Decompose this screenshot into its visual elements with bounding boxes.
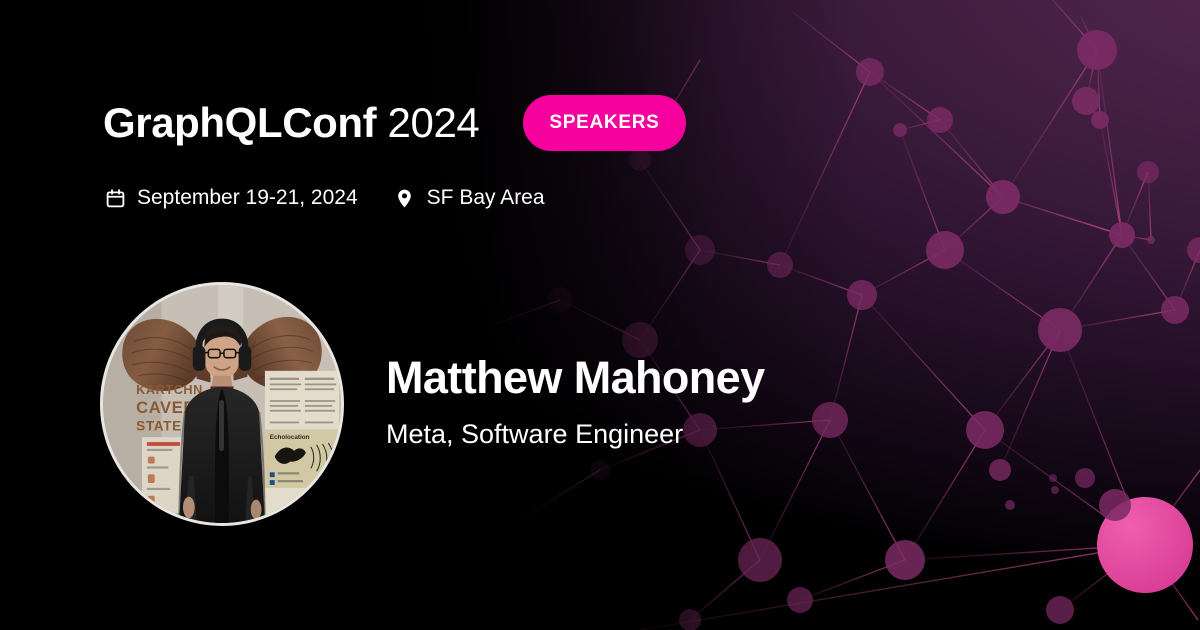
avatar-sign-line3: STATE — [136, 418, 182, 433]
calendar-icon — [104, 187, 126, 209]
event-date-label: September 19-21, 2024 — [137, 186, 358, 210]
speaker-role: Meta, Software Engineer — [386, 418, 765, 450]
conference-name: GraphQLConf — [103, 99, 376, 146]
event-location: SF Bay Area — [394, 186, 545, 210]
avatar-photo: KARTCHN CAVER STATE — [103, 285, 341, 523]
title-row: GraphQLConf 2024 SPEAKERS — [103, 95, 686, 151]
avatar-panel-title: Echolocation — [270, 434, 310, 441]
avatar-sign-line1: KARTCHN — [136, 383, 203, 397]
map-pin-icon — [394, 187, 416, 209]
speaker-name: Matthew Mahoney — [386, 354, 765, 403]
event-meta-row: September 19-21, 2024 SF Bay Area — [104, 186, 545, 210]
speaker-text: Matthew Mahoney Meta, Software Engineer — [386, 354, 765, 455]
avatar: KARTCHN CAVER STATE — [100, 282, 344, 526]
speaker-announcement-card: GraphQLConf 2024 SPEAKERS September 19-2… — [0, 0, 1200, 630]
event-location-label: SF Bay Area — [427, 186, 545, 210]
event-date: September 19-21, 2024 — [104, 186, 358, 210]
conference-year: 2024 — [388, 99, 480, 146]
speakers-badge[interactable]: SPEAKERS — [523, 95, 685, 151]
page-title: GraphQLConf 2024 — [103, 102, 479, 144]
speaker-block: KARTCHN CAVER STATE — [100, 282, 765, 526]
